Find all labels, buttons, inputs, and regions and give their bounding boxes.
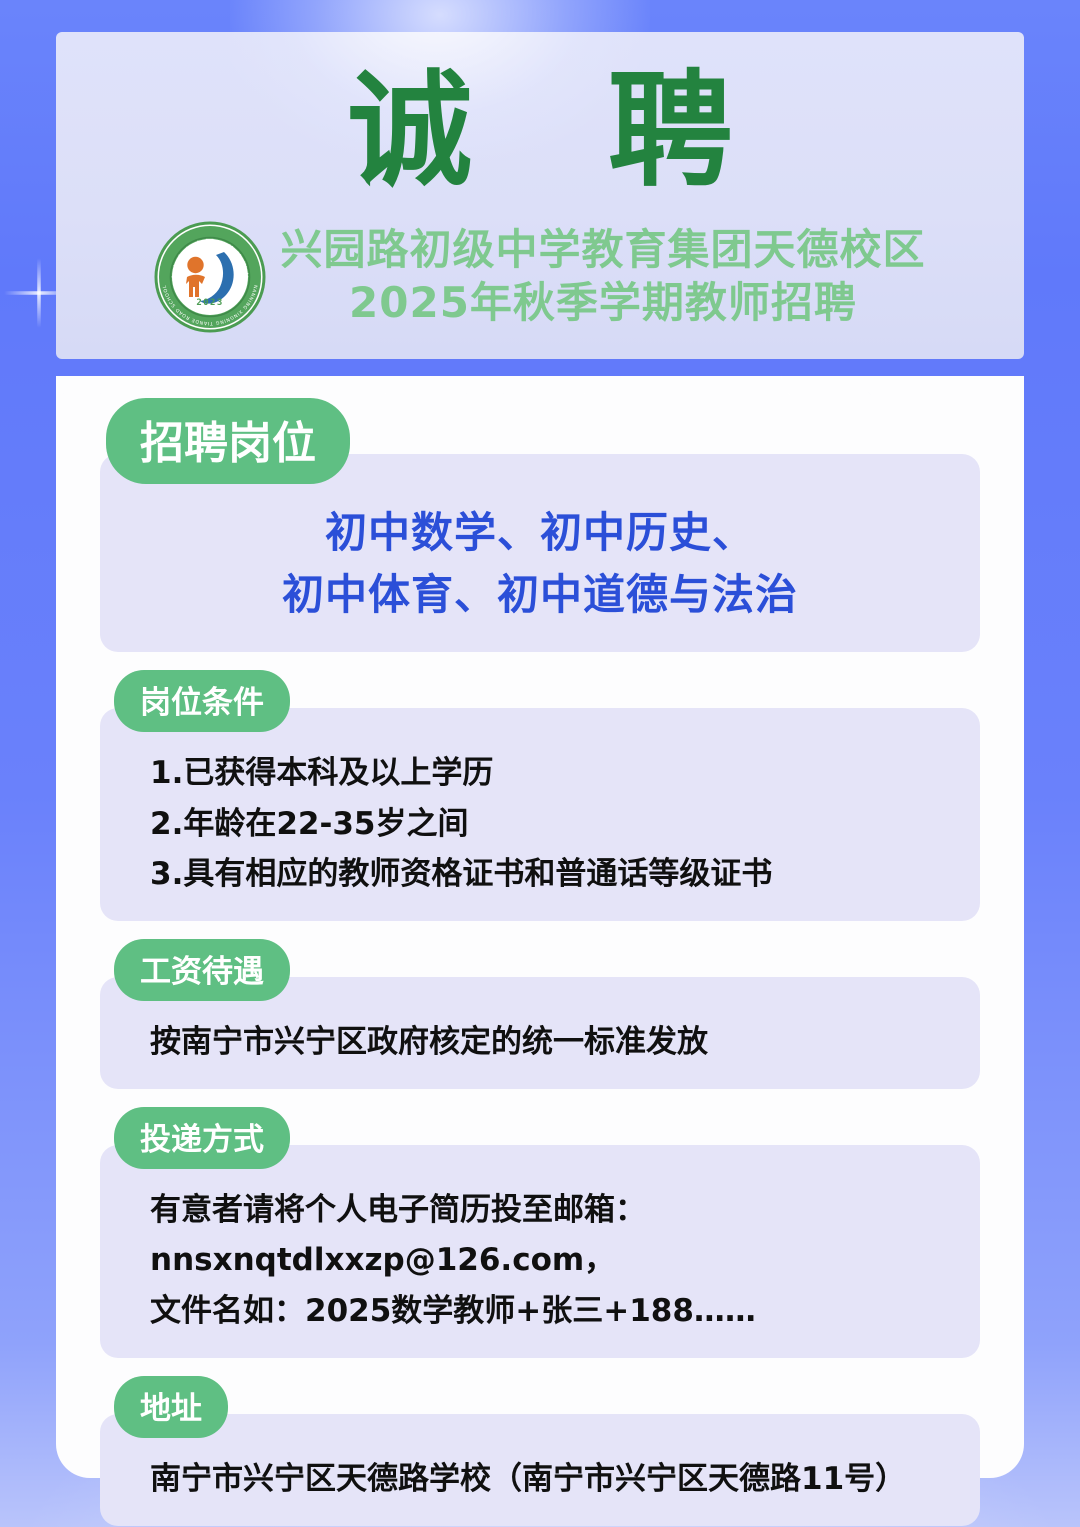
- subtitle-line-2: 2025年秋季学期教师招聘: [280, 277, 925, 330]
- requirements-panel: 1.已获得本科及以上学历 2.年龄在22-35岁之间 3.具有相应的教师资格证书…: [100, 708, 980, 921]
- header-subtitle-row: 南宁市兴宁区天德路学校 NANNING XINGNING TIANDE ROAD…: [56, 221, 1024, 333]
- submission-line-3: 文件名如：2025数学教师+张三+188……: [136, 1286, 946, 1336]
- section-label-positions: 招聘岗位: [106, 398, 350, 484]
- svg-text:2023: 2023: [197, 298, 224, 308]
- section-requirements: 岗位条件 1.已获得本科及以上学历 2.年龄在22-35岁之间 3.具有相应的教…: [100, 670, 980, 921]
- section-salary: 工资待遇 按南宁市兴宁区政府核定的统一标准发放: [100, 939, 980, 1089]
- requirement-item: 3.具有相应的教师资格证书和普通话等级证书: [136, 849, 946, 899]
- card-content: 招聘岗位 初中数学、初中历史、 初中体育、初中道德与法治 岗位条件 1.已获得本…: [56, 376, 1024, 1526]
- requirement-item: 2.年龄在22-35岁之间: [136, 799, 946, 849]
- address-text: 南宁市兴宁区天德路学校（南宁市兴宁区天德路11号）: [136, 1454, 946, 1504]
- section-label-requirements: 岗位条件: [114, 670, 290, 732]
- school-logo-icon: 南宁市兴宁区天德路学校 NANNING XINGNING TIANDE ROAD…: [154, 221, 266, 333]
- submission-panel: 有意者请将个人电子简历投至邮箱： nnsxnqtdlxxzp@126.com， …: [100, 1145, 980, 1358]
- header-subtitle: 兴园路初级中学教育集团天德校区 2025年秋季学期教师招聘: [280, 224, 925, 329]
- section-label-salary: 工资待遇: [114, 939, 290, 1001]
- address-panel: 南宁市兴宁区天德路学校（南宁市兴宁区天德路11号）: [100, 1414, 980, 1526]
- requirement-item: 1.已获得本科及以上学历: [136, 748, 946, 798]
- salary-text: 按南宁市兴宁区政府核定的统一标准发放: [136, 1017, 946, 1067]
- section-positions: 招聘岗位 初中数学、初中历史、 初中体育、初中道德与法治: [100, 398, 980, 652]
- submission-line-1: 有意者请将个人电子简历投至邮箱：: [136, 1185, 946, 1235]
- section-address: 地址 南宁市兴宁区天德路学校（南宁市兴宁区天德路11号）: [100, 1376, 980, 1526]
- subtitle-line-1: 兴园路初级中学教育集团天德校区: [280, 225, 925, 274]
- page-title: 诚 聘: [56, 32, 1024, 199]
- position-line-1: 初中数学、初中历史、: [325, 508, 755, 557]
- submission-email[interactable]: nnsxnqtdlxxzp@126.com，: [136, 1235, 946, 1285]
- poster-body-card: 招聘岗位 初中数学、初中历史、 初中体育、初中道德与法治 岗位条件 1.已获得本…: [56, 376, 1024, 1478]
- section-label-address: 地址: [114, 1376, 228, 1438]
- section-submission: 投递方式 有意者请将个人电子简历投至邮箱： nnsxnqtdlxxzp@126.…: [100, 1107, 980, 1358]
- section-label-submission: 投递方式: [114, 1107, 290, 1169]
- position-line-2: 初中体育、初中道德与法治: [282, 570, 798, 619]
- recruitment-poster: 诚 聘 南宁市兴宁区天德路学校 NANNING XINGNING TIANDE …: [0, 0, 1080, 1527]
- poster-header: 诚 聘 南宁市兴宁区天德路学校 NANNING XINGNING TIANDE …: [56, 32, 1024, 359]
